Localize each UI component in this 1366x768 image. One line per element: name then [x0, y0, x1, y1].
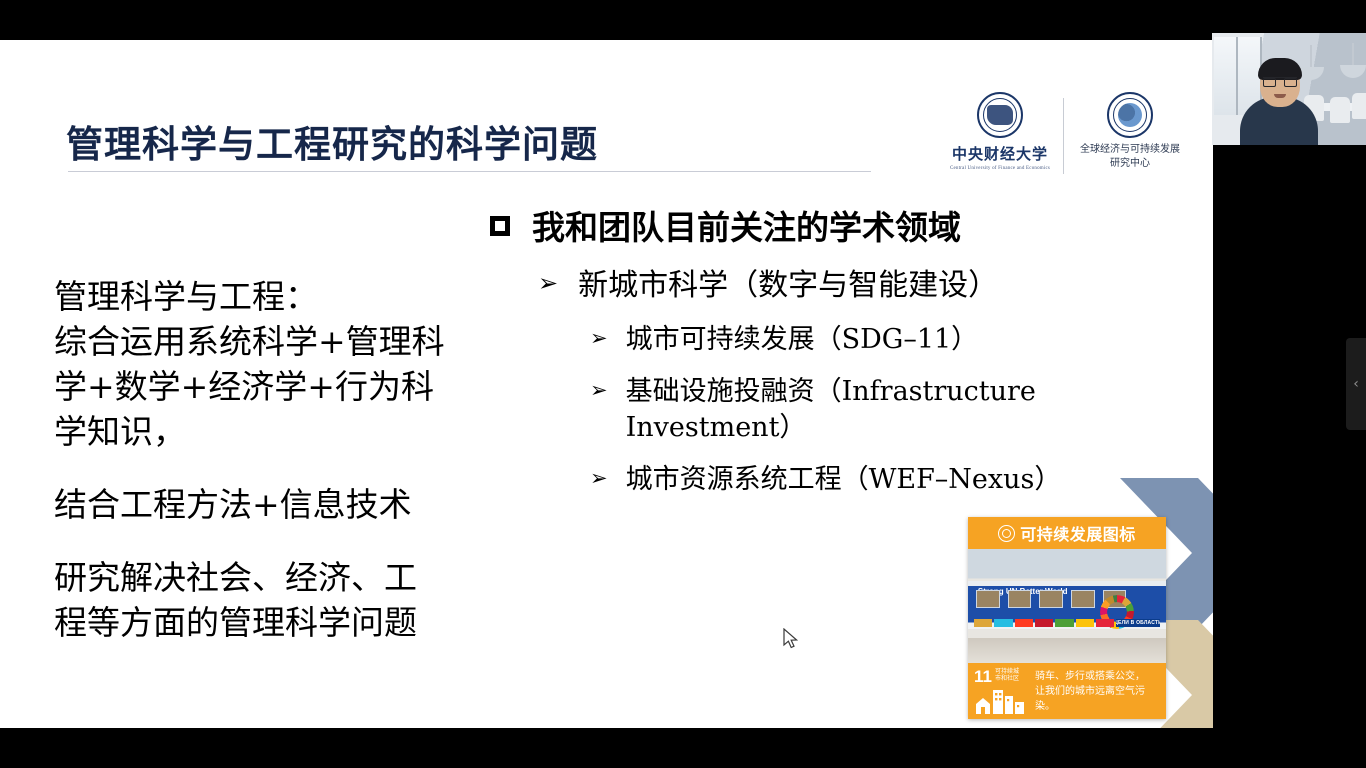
- left-line-1: 管理科学与工程：: [54, 274, 484, 319]
- train-body: Strong UN.Better World: [968, 581, 1166, 629]
- left-line-6: 研究解决社会、经济、工: [54, 555, 484, 600]
- bullet-level3-2-text: 基础设施投融资（Infrastructure Investment）: [626, 374, 1205, 446]
- center-name-line2: 研究中心: [1110, 157, 1150, 171]
- sdg-message: 骑车、步行或搭乘公交， 让我们的城市远离空气污染。: [1035, 669, 1160, 714]
- sdg-goal-name-line1: 可持续城: [995, 669, 1019, 675]
- left-line-7: 程等方面的管理科学问题: [54, 600, 484, 645]
- office-chair: [1352, 93, 1366, 119]
- left-line-5: 结合工程方法+信息技术: [54, 482, 484, 527]
- left-line-2: 综合运用系统科学+管理科: [54, 319, 484, 364]
- bullet-level2-text: 新城市科学（数字与智能建设）: [578, 266, 998, 306]
- presentation-slide: 管理科学与工程研究的科学问题 中央财经大学 Central University…: [0, 40, 1213, 728]
- sdg-poster-header-text: 可持续发展图标: [1020, 521, 1136, 545]
- bullet-level3-1: ➢ 城市可持续发展（SDG–11）: [490, 322, 1205, 358]
- slide-title: 管理科学与工程研究的科学问题: [66, 114, 598, 168]
- arrow-bullet-icon: ➢: [590, 374, 608, 406]
- title-divider: [68, 171, 871, 172]
- research-center-logo: 全球经济与可持续发展 研究中心: [1075, 92, 1185, 171]
- sdg-message-line1: 骑车、步行或搭乘公交，: [1035, 669, 1160, 684]
- sdg-goal-name-line2: 市和社区: [995, 676, 1019, 682]
- bullet-level3-1-text: 城市可持续发展（SDG–11）: [626, 322, 979, 358]
- participant-video-tile[interactable]: [1212, 33, 1366, 145]
- center-name-line1: 全球经济与可持续发展: [1080, 143, 1180, 157]
- sdg-poster-footer: 11 可持续城 市和社区: [968, 663, 1166, 719]
- university-name-cn: 中央财经大学: [952, 143, 1048, 164]
- un-emblem-icon: [998, 525, 1015, 542]
- sdg-poster-image: 可持续发展图标 Strong UN.Better World: [968, 517, 1166, 719]
- arrow-bullet-icon: ➢: [538, 266, 558, 300]
- globe-seal-icon: [1107, 92, 1153, 138]
- arrow-bullet-icon: ➢: [590, 322, 608, 354]
- left-line-3: 学+数学+经济学+行为科: [54, 364, 484, 409]
- sdg-goal-number: 11: [974, 669, 992, 684]
- left-text-column: 管理科学与工程： 综合运用系统科学+管理科 学+数学+经济学+行为科 学知识， …: [54, 274, 484, 645]
- left-spacer-2: [54, 527, 484, 555]
- university-logo: 中央财经大学 Central University of Finance and…: [945, 92, 1055, 171]
- city-buildings-icon: [974, 686, 1026, 714]
- left-spacer-1: [54, 454, 484, 482]
- glasses-icon: [1263, 77, 1297, 87]
- right-content-column: 我和团队目前关注的学术领域 ➢ 新城市科学（数字与智能建设） ➢ 城市可持续发展…: [490, 206, 1205, 498]
- square-bullet-icon: [490, 216, 510, 236]
- logo-divider: [1063, 98, 1064, 174]
- bullet-level3-2: ➢ 基础设施投融资（Infrastructure Investment）: [490, 374, 1205, 446]
- university-seal-icon: [977, 92, 1023, 138]
- sdg-message-line2: 让我们的城市远离空气污染。: [1035, 684, 1160, 714]
- sdg-goal-icon-strip: ЦЕЛИ В ОБЛАСТИ: [974, 619, 1160, 627]
- mouse-pointer-icon: [783, 628, 801, 650]
- arrow-bullet-icon: ➢: [590, 462, 608, 494]
- meeting-screen: 管理科学与工程研究的科学问题 中央财经大学 Central University…: [0, 0, 1366, 768]
- collapse-panel-handle[interactable]: ‹: [1346, 338, 1366, 430]
- sdg-poster-header: 可持续发展图标: [968, 517, 1166, 549]
- sdg-goal-badge: 11 可持续城 市和社区: [974, 669, 1029, 714]
- right-heading: 我和团队目前关注的学术领域: [490, 206, 1205, 250]
- left-line-4: 学知识，: [54, 409, 484, 454]
- office-chair: [1330, 97, 1350, 123]
- sdg-russian-label: ЦЕЛИ В ОБЛАСТИ: [1116, 619, 1160, 627]
- bullet-level3-3: ➢ 城市资源系统工程（WEF–Nexus）: [490, 462, 1205, 498]
- university-name-en: Central University of Finance and Econom…: [950, 166, 1050, 171]
- bullet-level2: ➢ 新城市科学（数字与智能建设）: [490, 266, 1205, 306]
- station-platform: [968, 638, 1166, 663]
- chevron-left-icon: ‹: [1353, 376, 1359, 392]
- bullet-level3-3-text: 城市资源系统工程（WEF–Nexus）: [626, 462, 1062, 498]
- sdg-train-photo: Strong UN.Better World: [968, 549, 1166, 663]
- right-heading-text: 我和团队目前关注的学术领域: [532, 206, 961, 250]
